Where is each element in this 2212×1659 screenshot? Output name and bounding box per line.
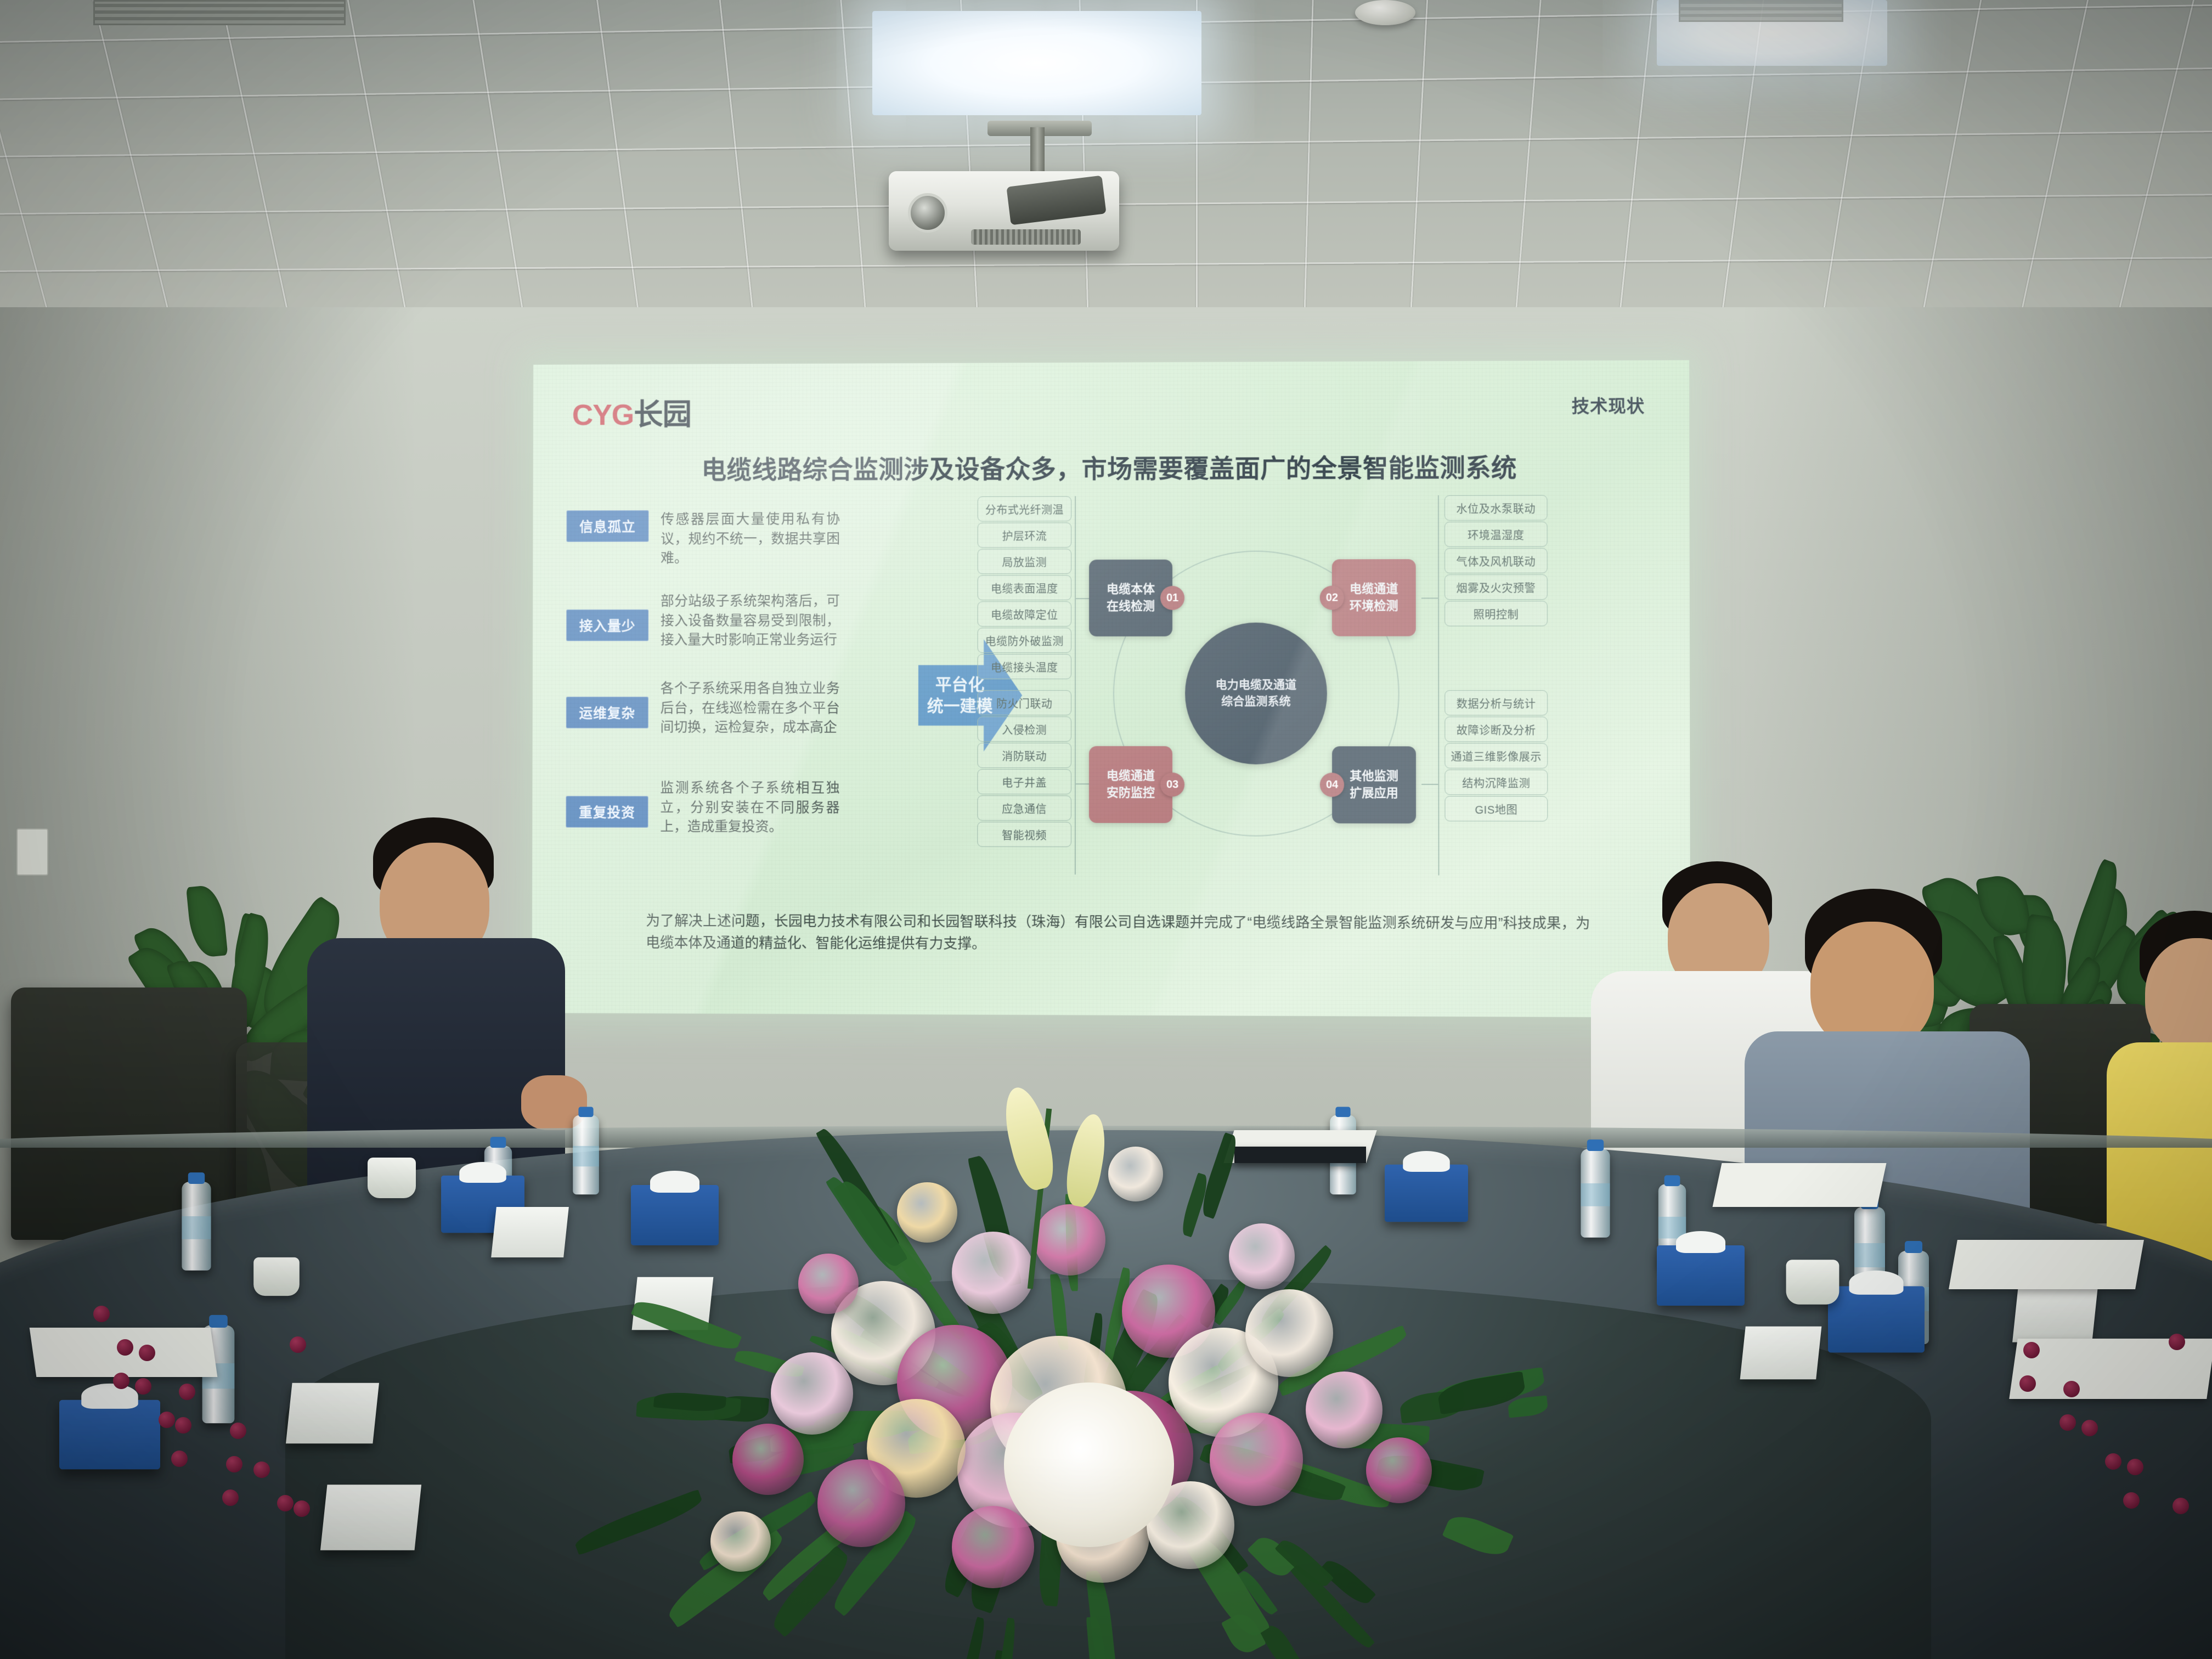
grape	[175, 1417, 191, 1434]
diagram-chip: 分布式光纤测温	[978, 496, 1072, 521]
chair-left-empty	[11, 988, 247, 1240]
grape	[2063, 1381, 2080, 1397]
diagram-chip: 故障诊断及分析	[1444, 716, 1548, 742]
flower-bloom	[1210, 1413, 1303, 1506]
diagram-badge-04: 04	[1320, 772, 1344, 797]
diagram-chip: 应急通信	[977, 795, 1071, 821]
diagram-badge-02: 02	[1320, 586, 1344, 610]
diagram-chip: 电缆接头温度	[977, 654, 1071, 679]
fern-frond	[953, 1617, 988, 1659]
fern-frond	[572, 1489, 705, 1555]
diagram-chip: 烟雾及火灾预警	[1444, 574, 1548, 600]
lily-bud	[997, 1083, 1060, 1193]
flower-bloom	[1306, 1372, 1383, 1448]
light-switch[interactable]	[16, 828, 48, 876]
diagram-chip: 结构沉降监测	[1444, 770, 1548, 795]
diagram-chip: 电子井盖	[977, 769, 1071, 794]
grape	[139, 1345, 155, 1361]
logo-latin: CYG	[572, 399, 634, 432]
chip-group-bottom-left: 防火门联动入侵检测消防联动电子井盖应急通信智能视频	[968, 493, 1656, 494]
diagram-node-04: 其他监测扩展应用	[1332, 746, 1416, 823]
grape	[230, 1423, 246, 1439]
flower-bloom	[952, 1506, 1034, 1588]
diagram-chip: 防火门联动	[977, 690, 1071, 715]
flower-bloom	[732, 1424, 804, 1495]
grape	[171, 1451, 188, 1467]
problem-text: 各个子系统采用各自独立业务后台，在线巡检需在多个平台间切换，运检复杂，成本高企	[661, 679, 840, 737]
ceiling	[0, 0, 2212, 329]
diagram-chip: 水位及水泵联动	[1444, 495, 1548, 521]
flower-bloom	[1245, 1289, 1333, 1377]
diagram-chip: 气体及风机联动	[1444, 548, 1548, 573]
grape	[117, 1339, 133, 1356]
problem-item-3: 运维复杂 各个子系统采用各自独立业务后台，在线巡检需在多个平台间切换，运检复杂，…	[566, 679, 840, 737]
flower-bloom	[771, 1352, 853, 1435]
diagram-chip: 环境温湿度	[1444, 522, 1548, 548]
rail-right	[1438, 495, 1440, 876]
monitoring-system-diagram: 电力电缆及通道综合监测系统 电缆本体在线检测 01 电缆通道环境检测 02 电缆…	[967, 493, 1657, 890]
ceiling-vent-2	[1679, 0, 1843, 22]
chip-group-bottom-right: 数据分析与统计故障诊断及分析通道三维影像展示结构沉降监测GIS地图	[968, 493, 1656, 494]
flower-bloom	[1034, 1204, 1105, 1276]
diagram-chip: 照明控制	[1444, 601, 1548, 626]
grape	[2123, 1492, 2140, 1509]
slide-footer-paragraph: 为了解决上述问题，长园电力技术有限公司和长园智联科技（珠海）有限公司自选课题并完…	[646, 910, 1590, 957]
water-bottle	[182, 1182, 211, 1271]
problem-item-1: 信息孤立 传感器层面大量使用私有协议，规约不统一，数据共享困难。	[566, 510, 840, 568]
diagram-chip: 护层环流	[978, 522, 1072, 548]
document-papers	[1949, 1240, 2144, 1289]
fern-frond	[631, 1295, 742, 1356]
name-card	[2012, 1286, 2098, 1342]
conference-room-scene: CYG长园 技术现状 电缆线路综合监测涉及设备众多，市场需要覆盖面广的全景智能监…	[0, 0, 2212, 1659]
grape	[2172, 1498, 2189, 1514]
name-card	[1740, 1327, 1822, 1380]
diagram-chip: 电缆表面温度	[978, 575, 1072, 600]
flower-bloom	[1366, 1437, 1432, 1503]
lily-white	[1004, 1383, 1174, 1547]
rail-right-connector-top	[1421, 597, 1438, 599]
diagram-chip: 数据分析与统计	[1444, 690, 1548, 715]
projector-vent-grille	[971, 229, 1081, 245]
grape	[159, 1412, 175, 1428]
diagram-node-02: 电缆通道环境检测	[1332, 559, 1416, 636]
fern-frond	[1507, 1396, 1548, 1418]
flower-bloom	[897, 1182, 957, 1243]
grape	[2081, 1420, 2098, 1436]
grape	[2169, 1334, 2185, 1350]
smoke-detector-icon	[1355, 0, 1415, 25]
chip-group-top-right: 水位及水泵联动环境温湿度气体及风机联动烟雾及火灾预警照明控制	[968, 493, 1656, 494]
problem-tag: 接入量少	[566, 610, 648, 641]
plant-leaf	[186, 884, 228, 958]
tissue-box	[59, 1400, 160, 1470]
rail-left	[1075, 496, 1076, 874]
diagram-chip: 智能视频	[977, 822, 1071, 847]
grape	[294, 1500, 310, 1517]
projector-arm	[1030, 127, 1045, 177]
grape	[2023, 1342, 2040, 1358]
flower-bloom	[952, 1232, 1034, 1314]
diagram-chip: 通道三维影像展示	[1444, 743, 1548, 768]
flower-bloom	[1229, 1223, 1295, 1289]
tea-cup	[253, 1257, 300, 1296]
ceiling-light-1	[872, 11, 1201, 115]
grape	[2105, 1453, 2121, 1470]
diagram-badge-01: 01	[1160, 586, 1184, 610]
projector-lens	[908, 193, 947, 233]
projected-slide: CYG长园 技术现状 电缆线路综合监测涉及设备众多，市场需要覆盖面广的全景智能监…	[532, 360, 1690, 1017]
flower-bloom	[798, 1254, 859, 1314]
logo-chinese: 长园	[634, 398, 691, 431]
grape	[2127, 1459, 2143, 1475]
grape	[253, 1462, 270, 1478]
fern-frond	[986, 1617, 1019, 1659]
flower-bloom	[710, 1511, 771, 1572]
grape	[113, 1373, 129, 1389]
company-logo: CYG长园	[572, 390, 691, 433]
lily-bud	[1062, 1111, 1111, 1209]
diagram-chip: 电缆防外破监测	[978, 628, 1072, 653]
diagram-chip: 入侵检测	[977, 716, 1071, 742]
name-card	[491, 1207, 569, 1257]
diagram-badge-03: 03	[1160, 772, 1184, 797]
grape	[179, 1384, 195, 1400]
grape	[277, 1495, 294, 1511]
fern-frond	[1442, 1509, 1514, 1561]
problem-text: 部分站级子系统架构落后，可接入设备数量容易受到限制，接入量大时影响正常业务运行	[661, 592, 840, 650]
grape	[93, 1306, 110, 1322]
document-papers	[1712, 1163, 1886, 1207]
flower-bloom	[1108, 1147, 1163, 1201]
problem-text: 传感器层面大量使用私有协议，规约不统一，数据共享困难。	[661, 510, 840, 568]
diagram-chip: 电缆故障定位	[978, 601, 1072, 627]
grape	[135, 1378, 151, 1395]
grape	[226, 1456, 242, 1472]
slide-title: 电缆线路综合监测涉及设备众多，市场需要覆盖面广的全景智能监测系统	[533, 447, 1690, 487]
name-card	[320, 1485, 421, 1550]
name-card	[286, 1383, 379, 1443]
grape	[290, 1336, 306, 1353]
diagram-chip: 局放监测	[978, 549, 1072, 574]
slide-section-label: 技术现状	[1572, 392, 1645, 418]
problem-item-4: 重复投资 监测系统各个子系统相互独立，分别安装在不同服务器上，造成重复投资。	[566, 778, 839, 837]
diagram-chip: 消防联动	[977, 743, 1071, 768]
problem-tag: 信息孤立	[566, 510, 648, 542]
grape	[222, 1489, 239, 1506]
chip-group-top-left: 分布式光纤测温护层环流局放监测电缆表面温度电缆故障定位电缆防外破监测电缆接头温度	[968, 493, 1656, 494]
rail-right-connector-bottom	[1421, 784, 1438, 785]
tea-cup	[1786, 1260, 1839, 1304]
flower-centerpiece	[576, 1075, 1591, 1659]
ceiling-vent-1	[93, 0, 346, 25]
tissue-box	[1657, 1245, 1745, 1306]
problem-tag: 运维复杂	[566, 697, 648, 729]
problem-item-2: 接入量少 部分站级子系统架构落后，可接入设备数量容易受到限制，接入量大时影响正常…	[566, 592, 840, 650]
flower-bloom	[817, 1459, 905, 1547]
problem-text: 监测系统各个子系统相互独立，分别安装在不同服务器上，造成重复投资。	[660, 778, 839, 837]
diagram-hub: 电力电缆及通道综合监测系统	[1185, 623, 1327, 765]
grape	[2019, 1375, 2036, 1392]
tea-cup	[368, 1158, 416, 1198]
tissue-box	[1828, 1286, 1925, 1353]
grape	[2059, 1414, 2076, 1431]
diagram-chip: GIS地图	[1444, 796, 1548, 822]
